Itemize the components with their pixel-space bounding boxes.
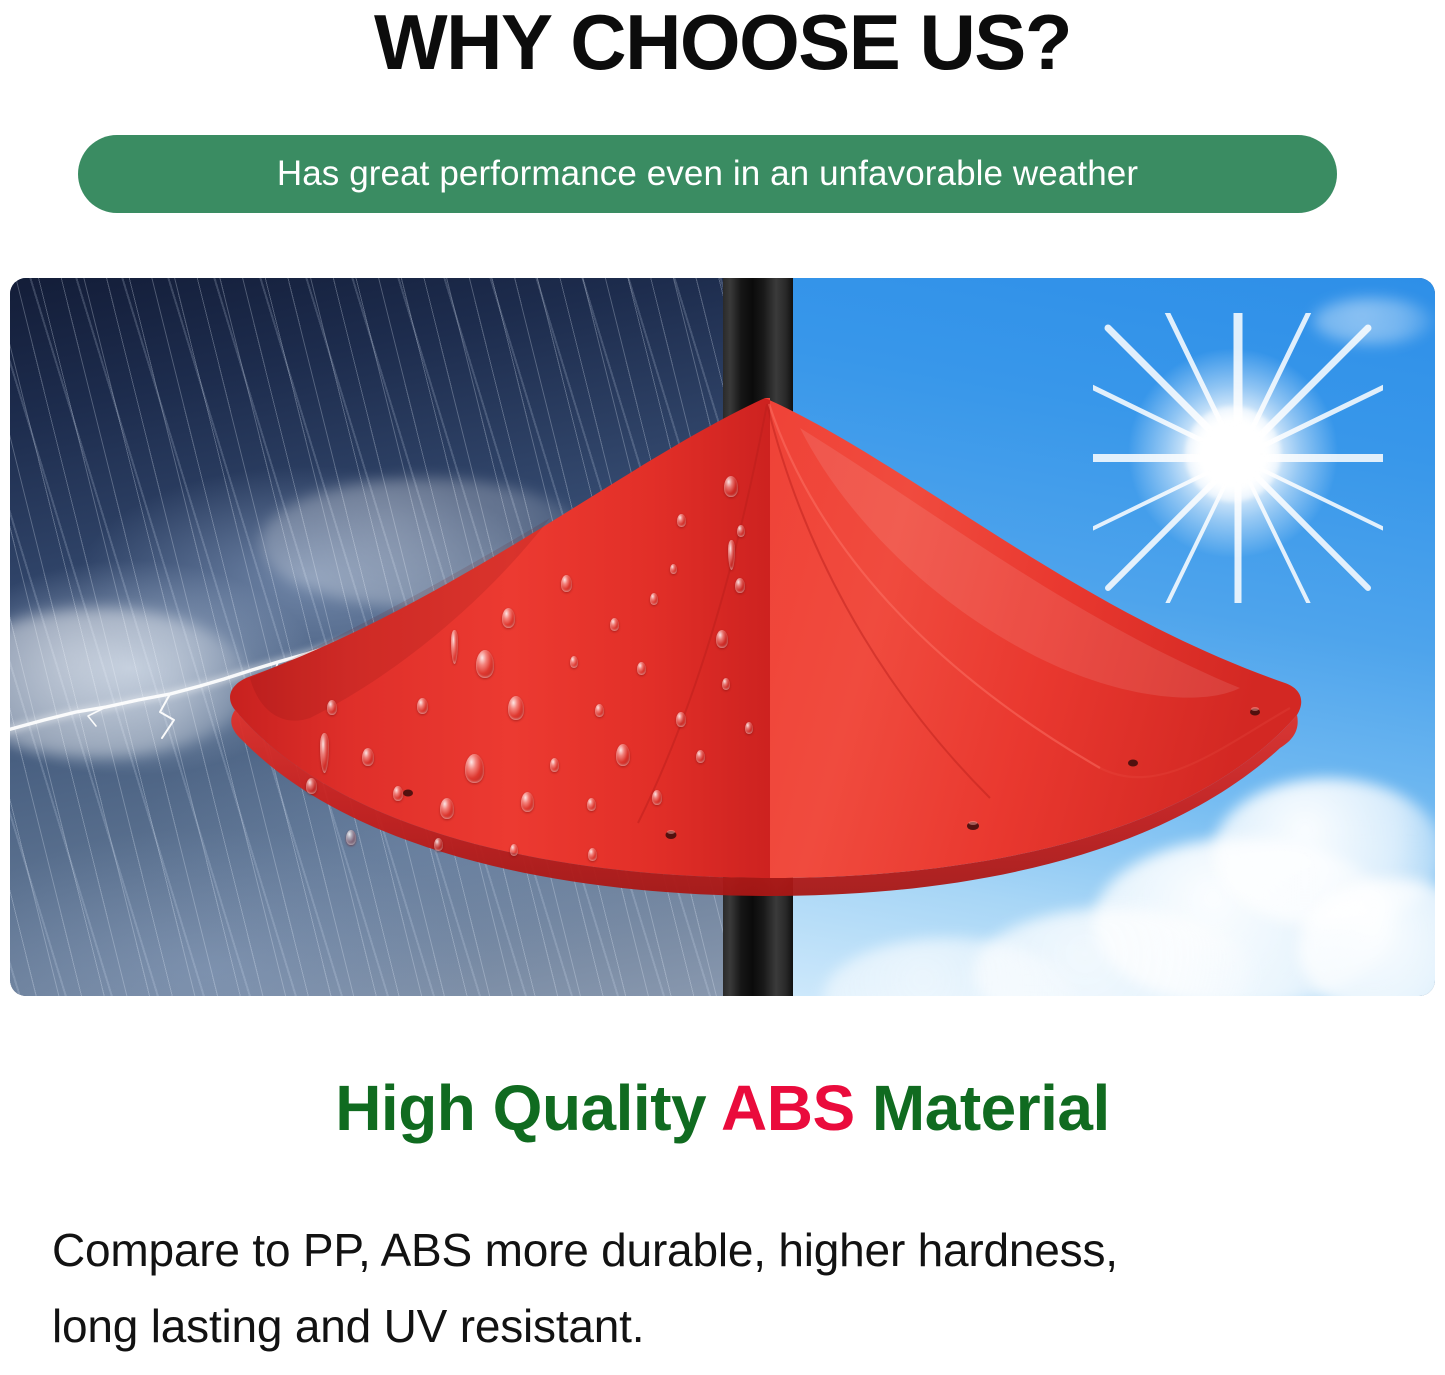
water-drop — [393, 786, 403, 801]
water-drop — [476, 650, 494, 678]
water-drop — [306, 778, 317, 794]
water-drop — [652, 790, 662, 805]
water-drop — [616, 744, 630, 766]
water-streak — [451, 630, 458, 664]
material-heading-part1: High Quality — [335, 1072, 721, 1144]
water-drop — [735, 578, 745, 593]
water-drop — [362, 748, 374, 766]
water-droplets — [10, 278, 1435, 996]
water-drop — [588, 848, 597, 861]
water-drop — [637, 662, 646, 675]
material-heading-highlight: ABS — [721, 1072, 855, 1144]
water-drop — [595, 704, 604, 717]
water-drop — [610, 618, 619, 631]
page-title: WHY CHOOSE US? — [0, 0, 1445, 90]
water-drop — [570, 656, 578, 668]
water-drop — [434, 838, 443, 851]
water-drop — [502, 608, 515, 628]
water-drop — [465, 754, 484, 783]
description-line-1: Compare to PP, ABS more durable, higher … — [52, 1212, 1397, 1288]
water-drop — [440, 798, 454, 819]
water-drop — [346, 830, 356, 845]
water-drop — [561, 575, 572, 592]
material-heading: High Quality ABS Material — [0, 1069, 1445, 1147]
water-drop — [508, 696, 524, 720]
water-drop — [521, 792, 534, 812]
water-streak — [320, 733, 329, 773]
material-heading-part2: Material — [855, 1072, 1110, 1144]
water-drop — [737, 525, 745, 537]
description-line-2: long lasting and UV resistant. — [52, 1288, 1397, 1364]
water-drop — [716, 630, 728, 648]
banner-text: Has great performance even in an unfavor… — [277, 154, 1138, 194]
water-drop — [650, 593, 658, 605]
water-drop — [417, 698, 428, 714]
water-drop — [677, 514, 686, 527]
banner-pill: Has great performance even in an unfavor… — [78, 135, 1337, 213]
water-drop — [745, 722, 753, 734]
water-drop — [670, 564, 677, 574]
product-photo — [10, 278, 1435, 996]
material-description: Compare to PP, ABS more durable, higher … — [52, 1212, 1397, 1364]
water-drop — [696, 750, 705, 763]
water-drop — [510, 844, 518, 856]
water-drop — [550, 758, 559, 772]
water-drop — [676, 712, 686, 727]
water-streak — [728, 540, 735, 570]
water-drop — [327, 700, 337, 715]
water-drop — [587, 798, 596, 811]
water-drop — [724, 476, 738, 497]
infographic-page: WHY CHOOSE US? Has great performance eve… — [0, 0, 1445, 1375]
water-drop — [722, 678, 730, 690]
